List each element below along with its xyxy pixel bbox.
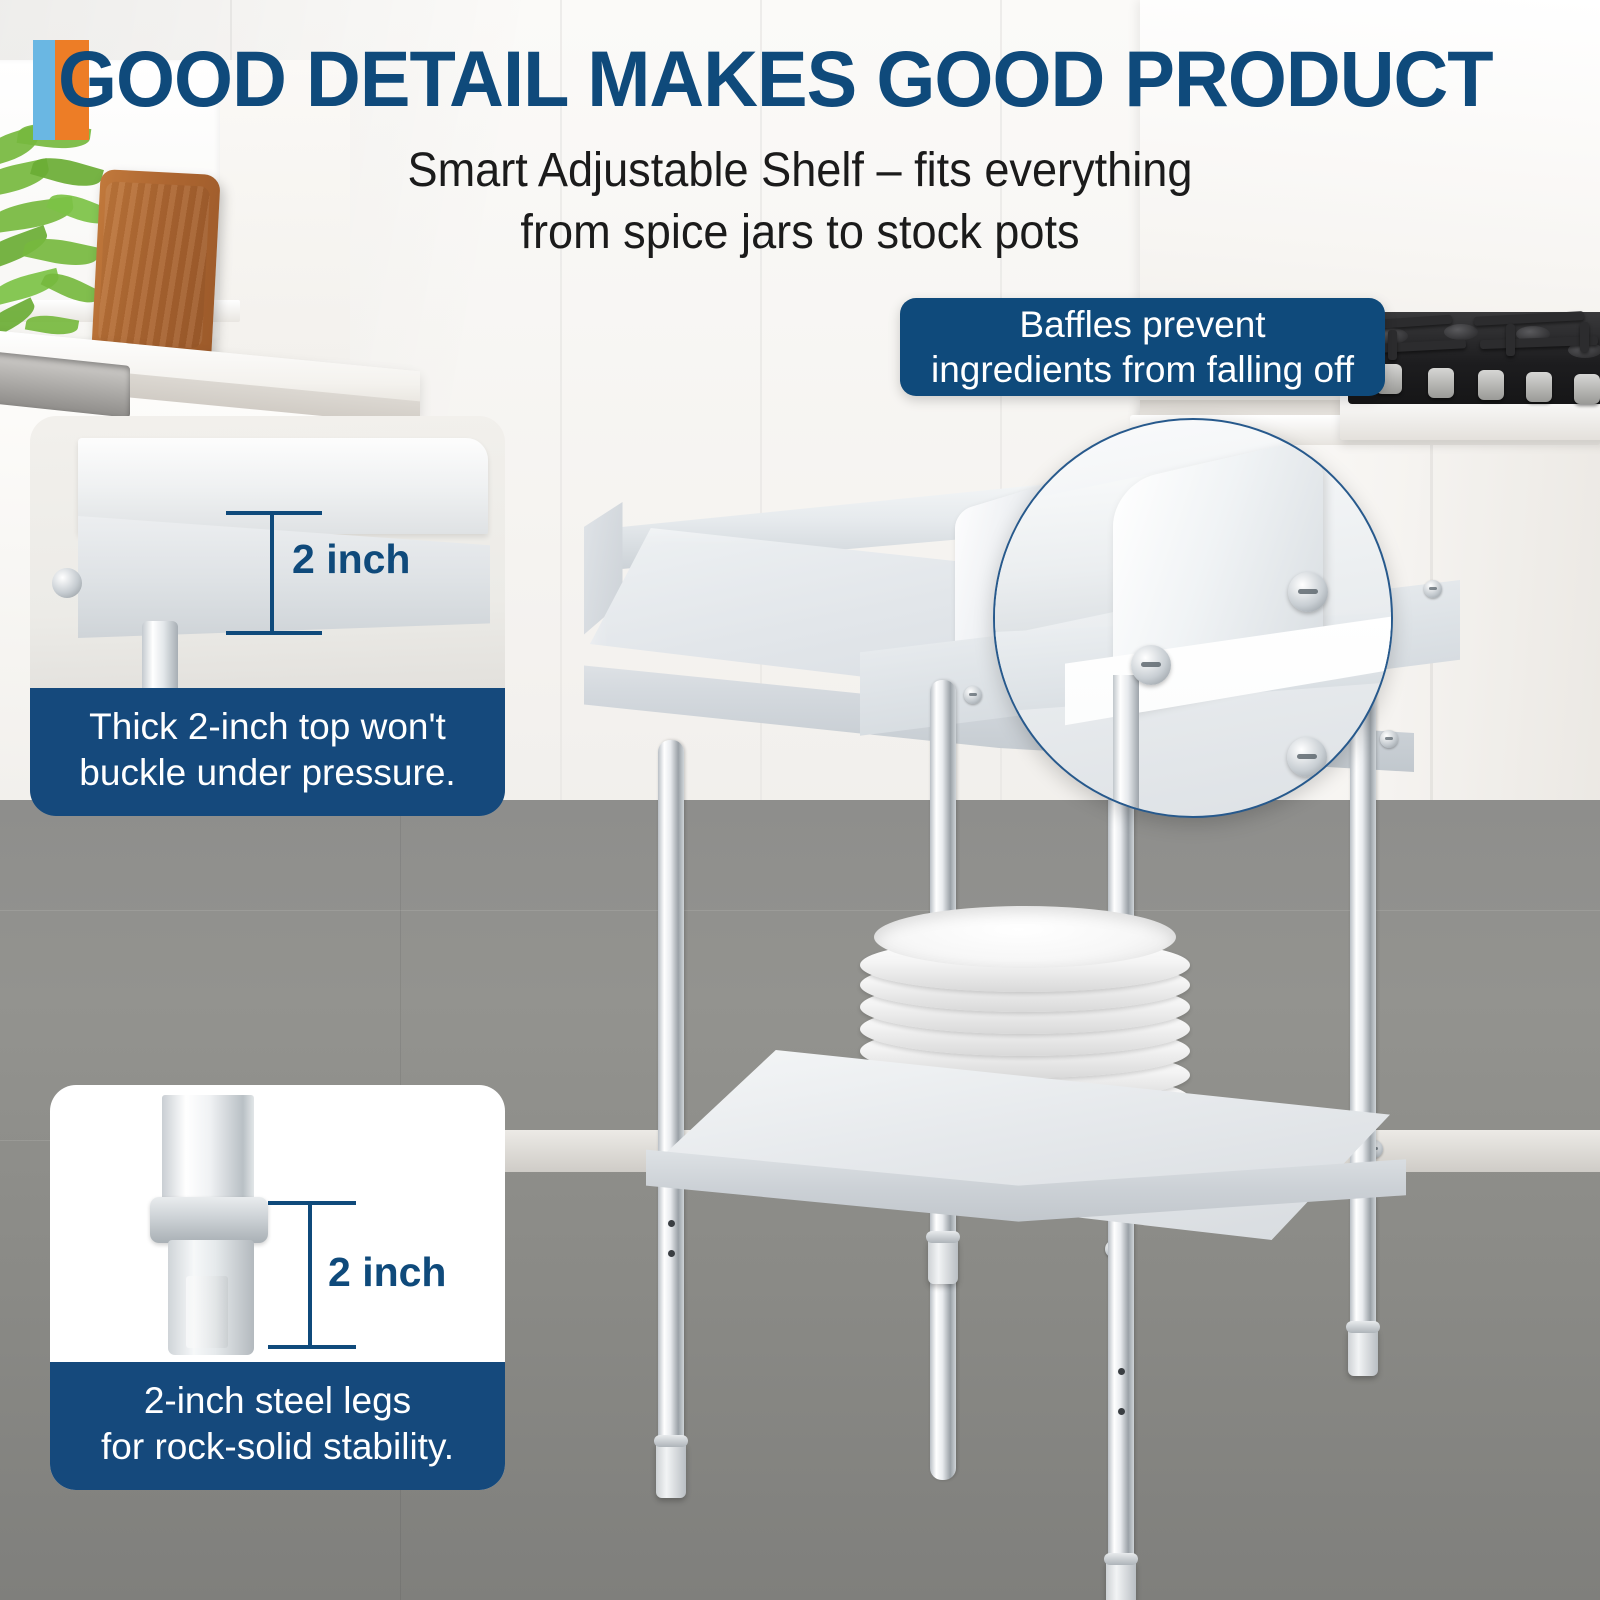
badge-baffles: Baffles prevent ingredients from falling…	[900, 298, 1385, 396]
card-caption-thick-top: Thick 2-inch top won't buckle under pres…	[30, 688, 505, 816]
detail-backsplash-bar	[78, 438, 488, 534]
subtitle-line-2: from spice jars to stock pots	[48, 202, 1552, 264]
magnified-leg	[1113, 675, 1139, 818]
page-subtitle: Smart Adjustable Shelf – fits everything…	[48, 140, 1552, 264]
gas-cooktop	[1348, 312, 1600, 404]
caption-line-1: Thick 2-inch top won't	[48, 704, 487, 750]
rivet	[964, 686, 982, 704]
detail-top-edge	[78, 516, 490, 638]
adjustable-foot	[1348, 1328, 1378, 1376]
magnified-rivet	[1288, 572, 1328, 612]
badge-baffles-line-1: Baffles prevent	[931, 302, 1354, 347]
adjustable-foot	[1106, 1560, 1136, 1600]
magnified-rivet	[1131, 645, 1171, 685]
caption-line-1: 2-inch steel legs	[68, 1378, 487, 1424]
subtitle-line-1: Smart Adjustable Shelf – fits everything	[48, 140, 1552, 202]
table-leg	[658, 740, 684, 1450]
dimension-label-top: 2 inch	[292, 536, 410, 583]
rivet	[1380, 730, 1398, 748]
detail-rivet	[52, 568, 82, 598]
rivet	[1424, 580, 1442, 598]
badge-baffles-line-2: ingredients from falling off	[931, 347, 1354, 392]
callout-card-thick-top: 2 inch Thick 2-inch top won't buckle und…	[30, 416, 505, 816]
dimension-label-bottom: 2 inch	[328, 1249, 446, 1296]
detail-leg-collar	[150, 1197, 268, 1243]
callout-card-steel-legs: 2 inch 2-inch steel legs for rock-solid …	[50, 1085, 505, 1490]
accent-bar-blue	[33, 40, 55, 140]
caption-line-2: buckle under pressure.	[48, 750, 487, 796]
detail-leg-foot	[168, 1240, 254, 1355]
magnified-rivet	[1287, 737, 1327, 777]
card-caption-steel-legs: 2-inch steel legs for rock-solid stabili…	[50, 1362, 505, 1490]
adjustable-foot	[656, 1442, 686, 1498]
detail-leg-tube	[162, 1095, 254, 1213]
caption-line-2: for rock-solid stability.	[68, 1424, 487, 1470]
magnifier-detail-circle	[993, 418, 1393, 818]
adjustable-foot	[928, 1238, 958, 1284]
page-title: GOOD DETAIL MAKES GOOD PRODUCT	[58, 36, 1527, 122]
infographic-canvas: GOOD DETAIL MAKES GOOD PRODUCT Smart Adj…	[0, 0, 1600, 1600]
